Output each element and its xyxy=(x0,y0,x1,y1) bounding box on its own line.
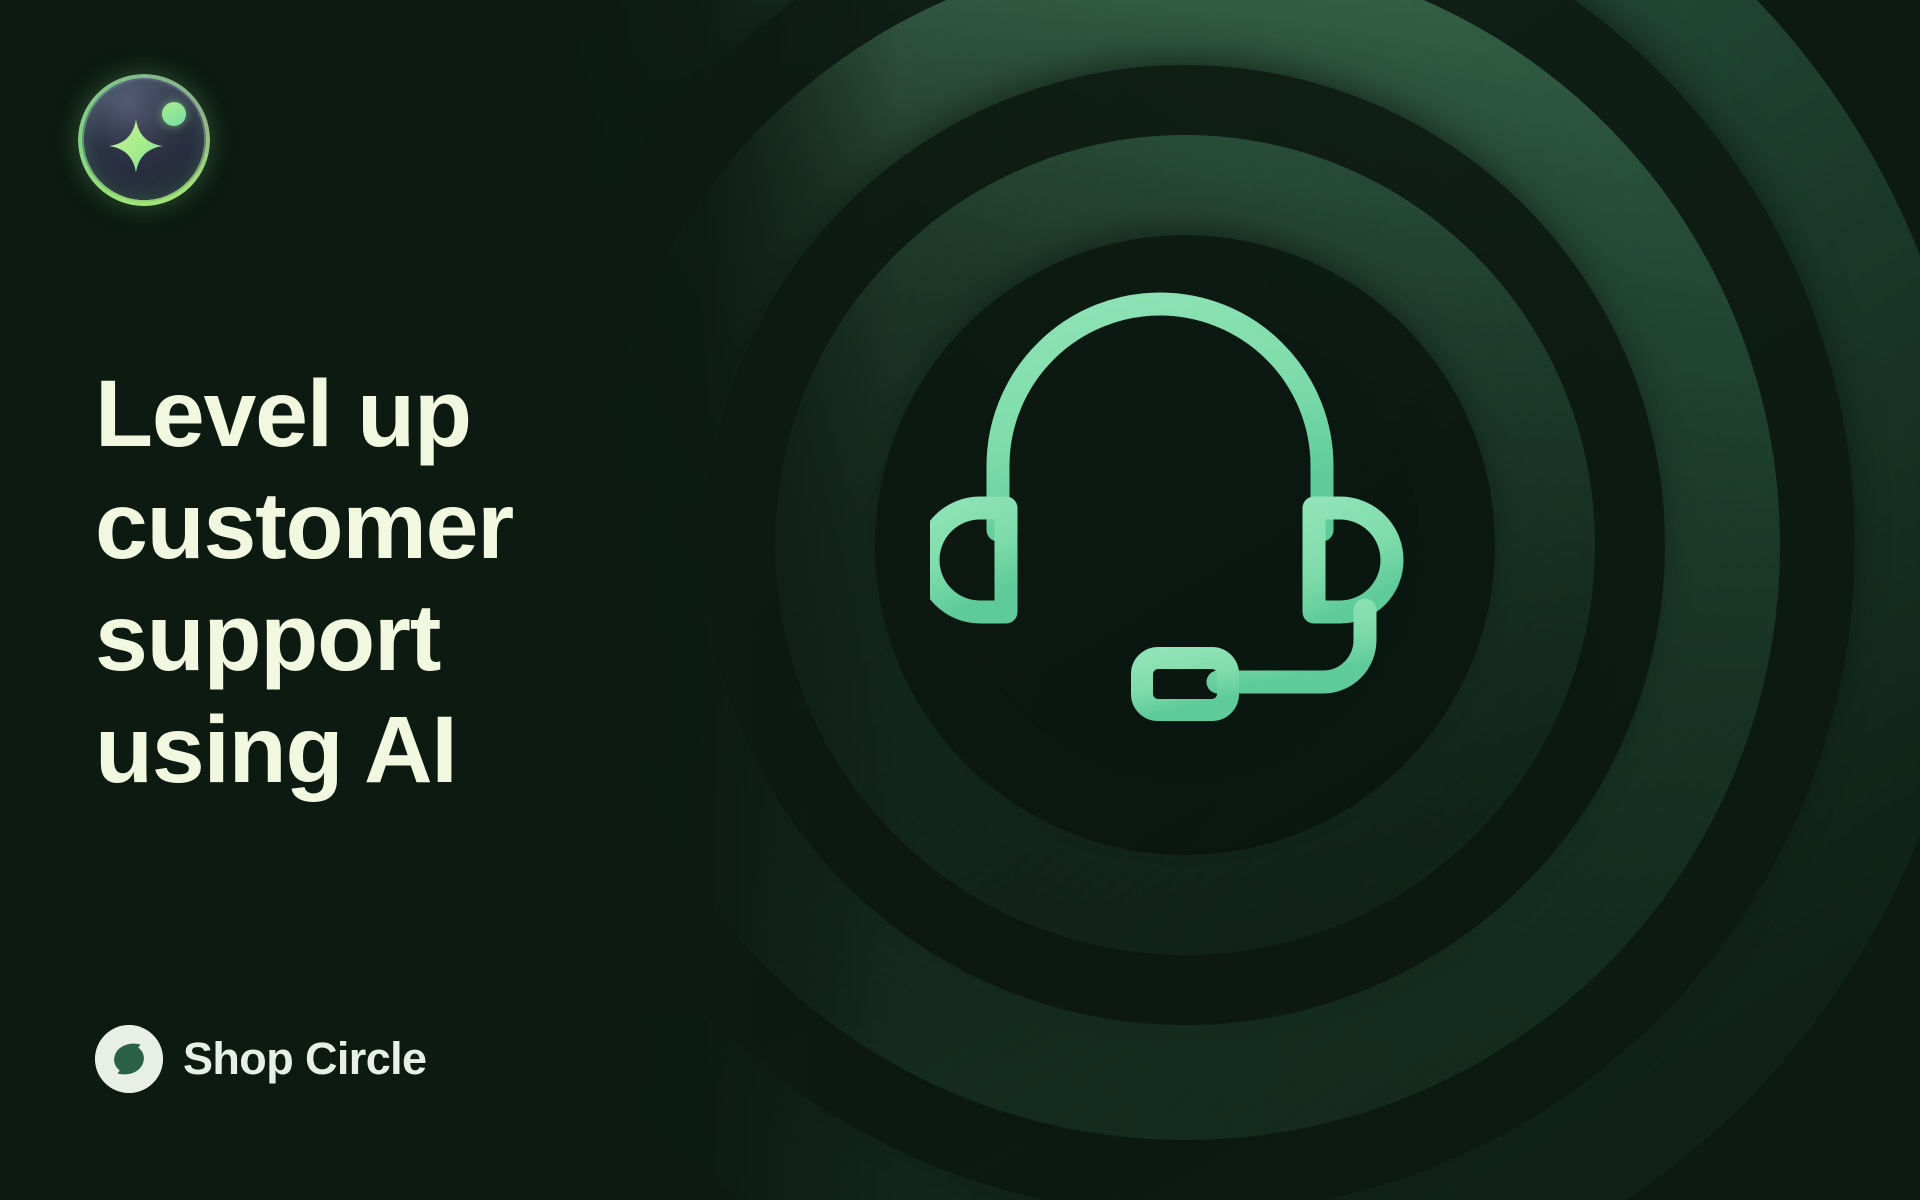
headset-support-icon xyxy=(930,270,1490,740)
headline-line-4: using AI xyxy=(95,694,655,806)
sparkle-star-icon xyxy=(108,118,164,174)
headband-path xyxy=(998,304,1322,530)
sparkle-dot-icon xyxy=(162,102,186,126)
page-title: Level up customer support using AI xyxy=(95,358,655,806)
ai-sparkle-badge xyxy=(78,74,210,206)
brand-lockup: Shop Circle xyxy=(95,1025,426,1093)
headline-line-3: support xyxy=(95,582,655,694)
poster-canvas: Level up customer support using AI Shop … xyxy=(0,0,1920,1200)
brand-name-label: Shop Circle xyxy=(183,1033,426,1085)
headline-line-2: customer xyxy=(95,470,655,582)
left-ear-cup xyxy=(930,508,1006,612)
headline-line-1: Level up xyxy=(95,358,655,470)
shop-circle-logo-icon xyxy=(95,1025,163,1093)
